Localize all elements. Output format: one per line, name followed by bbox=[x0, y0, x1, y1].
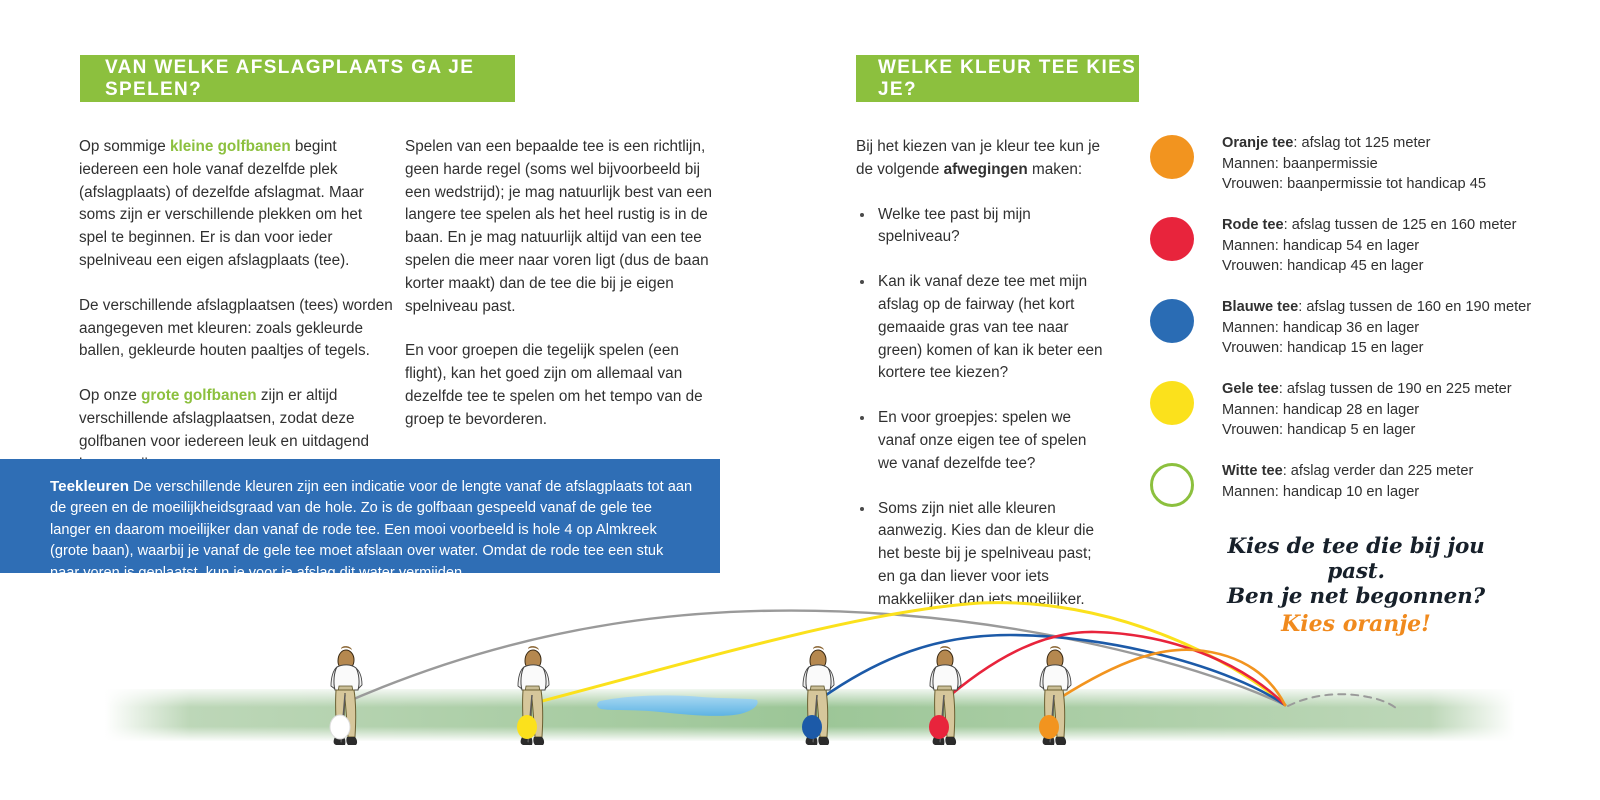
section-header-right: WELKE KLEUR TEE KIES JE? bbox=[856, 55, 1139, 102]
legend-line-3: Vrouwen: handicap 15 en lager bbox=[1222, 338, 1580, 359]
legend-name: Gele tee bbox=[1222, 381, 1279, 397]
text-column-c: Bij het kiezen van je kleur tee kun je d… bbox=[856, 136, 1106, 612]
legend-row-white: Witte tee: afslag verder dan 225 meter M… bbox=[1150, 461, 1580, 523]
white-tee-dot-icon bbox=[1150, 463, 1194, 507]
legend-name: Blauwe tee bbox=[1222, 299, 1298, 315]
a1-text-1: Op sommige bbox=[79, 138, 170, 155]
section-header-left: VAN WELKE AFSLAGPLAATS GA JE SPELEN? bbox=[80, 55, 515, 102]
legend-line-1: Rode tee: afslag tussen de 125 en 160 me… bbox=[1222, 215, 1580, 236]
c-intro-2: maken: bbox=[1028, 161, 1082, 178]
orange-tee-dot-icon bbox=[1150, 135, 1194, 179]
legend-line-2: Mannen: baanpermissie bbox=[1222, 154, 1580, 175]
legend-line-1: Blauwe tee: afslag tussen de 160 en 190 … bbox=[1222, 297, 1580, 318]
paragraph-b2: En voor groepen die tegelijk spelen (een… bbox=[405, 340, 717, 431]
legend-line-3: Vrouwen: handicap 45 en lager bbox=[1222, 256, 1580, 277]
c-intro-bold: afwegingen bbox=[944, 161, 1028, 178]
legend-row-red: Rode tee: afslag tussen de 125 en 160 me… bbox=[1150, 215, 1580, 277]
legend-line-2: Mannen: handicap 36 en lager bbox=[1222, 318, 1580, 339]
yellow-tee-ball bbox=[517, 715, 537, 739]
a3-text-1: Op onze bbox=[79, 387, 141, 404]
legend-name: Oranje tee bbox=[1222, 135, 1293, 151]
legend-row-orange: Oranje tee: afslag tot 125 meter Mannen:… bbox=[1150, 133, 1580, 195]
legend-line-2: Mannen: handicap 28 en lager bbox=[1222, 400, 1580, 421]
tee-colour-legend: Oranje tee: afslag tot 125 meter Mannen:… bbox=[1150, 133, 1580, 523]
paragraph-c-intro: Bij het kiezen van je kleur tee kun je d… bbox=[856, 136, 1106, 182]
paragraph-a1: Op sommige kleine golfbanen begint ieder… bbox=[79, 136, 393, 273]
legend-row-yellow: Gele tee: afslag tussen de 190 en 225 me… bbox=[1150, 379, 1580, 441]
legend-line-2: Mannen: handicap 54 en lager bbox=[1222, 236, 1580, 257]
paragraph-a2: De verschillende afslagplaatsen (tees) w… bbox=[79, 295, 393, 363]
red-tee-ball bbox=[929, 715, 949, 739]
legend-range: : afslag tussen de 190 en 225 meter bbox=[1279, 381, 1512, 397]
yellow-tee-dot-icon bbox=[1150, 381, 1194, 425]
white-tee-ball bbox=[330, 715, 350, 739]
blue-tee-dot-icon bbox=[1150, 299, 1194, 343]
text-column-b: Spelen van een bepaalde tee is een richt… bbox=[405, 136, 717, 432]
legend-line-1: Oranje tee: afslag tot 125 meter bbox=[1222, 133, 1580, 154]
blue-tee-ball bbox=[802, 715, 822, 739]
list-item: Welke tee past bij mijn spelniveau? bbox=[856, 204, 1106, 250]
golf-course-illustration bbox=[0, 555, 1600, 800]
section-header-right-label: WELKE KLEUR TEE KIES JE? bbox=[878, 57, 1139, 101]
list-item: En voor groepjes: spelen we vanaf onze e… bbox=[856, 407, 1106, 475]
a1-text-2: begint iedereen een hole vanaf dezelfde … bbox=[79, 138, 364, 269]
section-header-left-label: VAN WELKE AFSLAGPLAATS GA JE SPELEN? bbox=[105, 57, 515, 101]
legend-name: Witte tee bbox=[1222, 463, 1283, 479]
orange-tee-ball bbox=[1039, 715, 1059, 739]
legend-line-1: Witte tee: afslag verder dan 225 meter bbox=[1222, 461, 1580, 482]
legend-line-3: Vrouwen: handicap 5 en lager bbox=[1222, 420, 1580, 441]
legend-range: : afslag verder dan 225 meter bbox=[1283, 463, 1474, 479]
legend-line-3: Vrouwen: baanpermissie tot handicap 45 bbox=[1222, 174, 1580, 195]
legend-name: Rode tee bbox=[1222, 217, 1284, 233]
legend-range: : afslag tussen de 160 en 190 meter bbox=[1298, 299, 1531, 315]
list-item: Kan ik vanaf deze tee met mijn afslag op… bbox=[856, 271, 1106, 385]
paragraph-b1: Spelen van een bepaalde tee is een richt… bbox=[405, 136, 717, 318]
legend-line-1: Gele tee: afslag tussen de 190 en 225 me… bbox=[1222, 379, 1580, 400]
legend-line-2: Mannen: handicap 10 en lager bbox=[1222, 482, 1580, 503]
consideration-list: Welke tee past bij mijn spelniveau? Kan … bbox=[856, 204, 1106, 612]
legend-range: : afslag tot 125 meter bbox=[1293, 135, 1430, 151]
a3-highlight: grote golfbanen bbox=[141, 387, 257, 404]
text-column-a: Op sommige kleine golfbanen begint ieder… bbox=[79, 136, 393, 476]
a1-highlight: kleine golfbanen bbox=[170, 138, 291, 155]
callout-title: Teekleuren bbox=[50, 478, 129, 495]
legend-range: : afslag tussen de 125 en 160 meter bbox=[1284, 217, 1517, 233]
red-tee-dot-icon bbox=[1150, 217, 1194, 261]
legend-row-blue: Blauwe tee: afslag tussen de 160 en 190 … bbox=[1150, 297, 1580, 359]
infographic-page: VAN WELKE AFSLAGPLAATS GA JE SPELEN? WEL… bbox=[0, 0, 1600, 800]
